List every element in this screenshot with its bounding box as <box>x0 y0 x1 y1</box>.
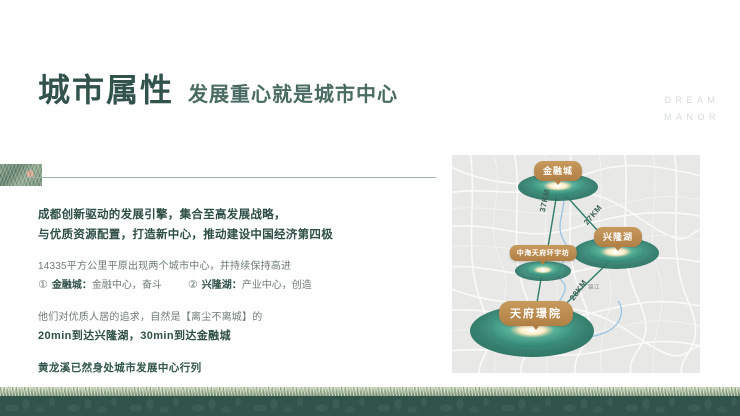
marker-2-label: 兴隆湖： <box>202 277 242 295</box>
label-pointer <box>539 260 547 265</box>
label-pointer <box>554 180 562 185</box>
page-title-main: 城市属性 <box>38 74 174 106</box>
brand-line-1: DREAM <box>664 92 720 109</box>
commute-time-line: 20min到达兴隆湖，30min到达金融城 <box>38 327 433 347</box>
map-graphics <box>452 155 700 373</box>
map-label-tianfujingyuan[interactable]: 天府璟院 <box>499 301 573 326</box>
header-divider-rule <box>24 177 436 178</box>
brand-mark: DREAM MANOR <box>664 92 720 126</box>
marker-1-text: 金融中心，奋斗 <box>92 277 162 295</box>
page-title: 城市属性 发展重心就是城市中心 <box>38 74 398 106</box>
lead-line-2: 与优质资源配置，打造新中心，推动建设中国经济第四极 <box>38 225 433 245</box>
map-label-text: 天府璟院 <box>510 308 562 320</box>
map-label-jinrongcheng[interactable]: 金融城 <box>534 161 582 181</box>
footer-pattern-motif <box>0 395 740 416</box>
footer-ornament-band <box>0 387 740 416</box>
page-title-subtitle: 发展重心就是城市中心 <box>188 85 398 105</box>
paragraph-1: 14335平方公里平原出现两个城市中心，并持续保持高进 <box>38 258 433 276</box>
map-label-text: 金融城 <box>543 166 573 176</box>
brand-line-2: MANOR <box>664 109 720 126</box>
map-river-label: 锦江 <box>588 283 600 291</box>
body-copy: 成都创新驱动的发展引擎，集合至高发展战略， 与优质资源配置，打造新中心，推动建设… <box>38 205 433 375</box>
marker-1-number: ① <box>38 276 48 296</box>
label-pointer <box>532 325 540 330</box>
lead-line-1: 成都创新驱动的发展引擎，集合至高发展战略， <box>38 205 433 225</box>
location-map[interactable]: 金融城 兴隆湖 中海天府环宇坊 天府璟院 37KM 27KM 28KM 锦江 <box>452 155 700 373</box>
label-pointer <box>614 246 622 251</box>
center-markers: ① 金融城： 金融中心，奋斗 ② 兴隆湖： 产业中心，创造 <box>38 276 433 296</box>
map-label-text: 兴隆湖 <box>603 232 633 242</box>
decorative-thumbnail <box>0 164 42 186</box>
paragraph-2: 他们对优质人居的追求，自然是【离尘不离城】的 <box>38 309 433 327</box>
map-label-text: 中海天府环宇坊 <box>517 250 570 257</box>
map-label-xinglonghu[interactable]: 兴隆湖 <box>594 227 642 247</box>
marker-1-label: 金融城： <box>52 277 92 295</box>
map-label-zhonghai[interactable]: 中海天府环宇坊 <box>510 245 577 261</box>
closing-line: 黄龙溪已然身处城市发展中心行列 <box>38 360 433 375</box>
marker-2-text: 产业中心，创造 <box>242 277 312 295</box>
marker-2-number: ② <box>188 276 198 296</box>
